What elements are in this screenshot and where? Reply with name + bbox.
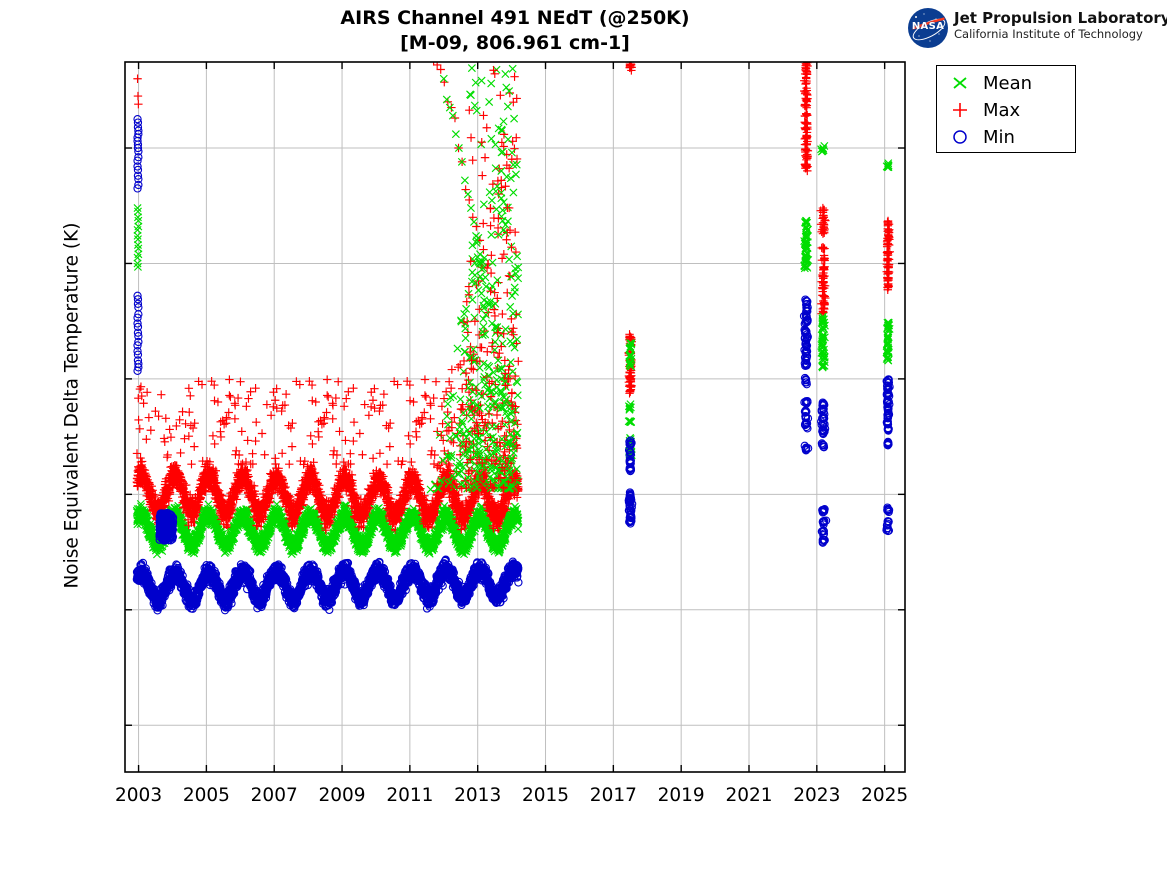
- mean-marker-icon: [937, 73, 983, 93]
- legend-label-max: Max: [983, 100, 1020, 121]
- x-tick-label-2015: 2015: [522, 785, 569, 806]
- x-tick-label-2025: 2025: [861, 785, 908, 806]
- x-tick-label-2023: 2023: [793, 785, 840, 806]
- min-marker-icon: [937, 127, 983, 147]
- x-tick-label-2017: 2017: [590, 785, 637, 806]
- x-tick-label-2019: 2019: [658, 785, 705, 806]
- x-tick-label-2007: 2007: [251, 785, 298, 806]
- legend-item-max: Max: [937, 97, 1075, 123]
- figure-canvas: AIRS Channel 491 NEdT (@250K) [M-09, 806…: [0, 0, 1167, 875]
- x-tick-label-2005: 2005: [183, 785, 230, 806]
- legend-label-min: Min: [983, 127, 1015, 148]
- x-tick-label-2021: 2021: [725, 785, 772, 806]
- x-tick-label-2009: 2009: [318, 785, 365, 806]
- legend-label-mean: Mean: [983, 73, 1032, 94]
- legend-item-mean: Mean: [937, 70, 1075, 96]
- chart-legend: Mean Max Min: [936, 65, 1076, 153]
- max-marker-icon: [937, 100, 983, 120]
- x-tick-label-2013: 2013: [454, 785, 501, 806]
- x-tick-label-2003: 2003: [115, 785, 162, 806]
- legend-item-min: Min: [937, 124, 1075, 150]
- x-tick-label-2011: 2011: [386, 785, 433, 806]
